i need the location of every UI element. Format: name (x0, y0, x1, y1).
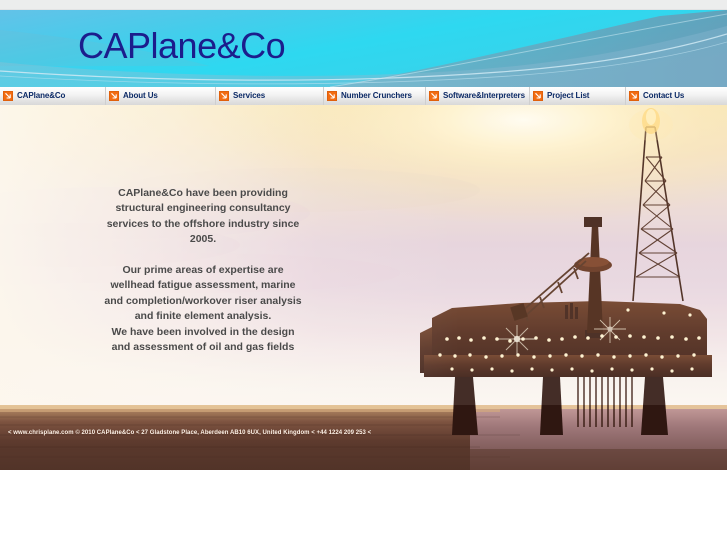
intro-line: CAPlane&Co have been providing (62, 186, 344, 201)
nav-item-label: CAPlane&Co (17, 92, 65, 100)
nav-item-label: Project List (547, 92, 589, 100)
intro-line: and finite element analysis. (62, 309, 344, 324)
nav-item-label: Software&Interpreters (443, 92, 525, 100)
nav-item-label: Contact Us (643, 92, 684, 100)
nav-item-caplaneco[interactable]: CAPlane&Co (0, 87, 106, 105)
paragraph-spacer (62, 248, 344, 263)
arrow-down-right-icon (327, 91, 337, 101)
intro-line: and assessment of oil and gas fields (62, 340, 344, 355)
footer-contact-info: < www.chrisplane.com © 2010 CAPlane&Co <… (8, 430, 371, 436)
intro-line: wellhead fatigue assessment, marine (62, 278, 344, 293)
site-header: CAPlane&Co (0, 10, 727, 87)
nav-item-about-us[interactable]: About Us (106, 87, 216, 105)
nav-item-software-interpreters[interactable]: Software&Interpreters (426, 87, 530, 105)
main-content: CAPlane&Co have been providing structura… (0, 105, 727, 470)
arrow-down-right-icon (629, 91, 639, 101)
intro-line: services to the offshore industry since (62, 217, 344, 232)
nav-item-label: About Us (123, 92, 158, 100)
nav-item-project-list[interactable]: Project List (530, 87, 626, 105)
browser-top-strip (0, 0, 727, 10)
nav-item-number-crunchers[interactable]: Number Crunchers (324, 87, 426, 105)
site-logo[interactable]: CAPlane&Co (78, 25, 285, 67)
intro-line: structural engineering consultancy (62, 201, 344, 216)
intro-line: 2005. (62, 232, 344, 247)
arrow-down-right-icon (429, 91, 439, 101)
nav-item-contact-us[interactable]: Contact Us (626, 87, 727, 105)
nav-item-services[interactable]: Services (216, 87, 324, 105)
arrow-down-right-icon (3, 91, 13, 101)
intro-line: and completion/workover riser analysis (62, 294, 344, 309)
page-root: CAPlane&Co CAPlane&Co About Us Services (0, 0, 727, 545)
arrow-down-right-icon (533, 91, 543, 101)
arrow-down-right-icon (219, 91, 229, 101)
nav-item-label: Number Crunchers (341, 92, 412, 100)
main-navigation[interactable]: CAPlane&Co About Us Services Number Crun… (0, 87, 727, 105)
arrow-down-right-icon (109, 91, 119, 101)
intro-text-block: CAPlane&Co have been providing structura… (62, 186, 344, 355)
nav-item-label: Services (233, 92, 265, 100)
intro-line: Our prime areas of expertise are (62, 263, 344, 278)
intro-line: We have been involved in the design (62, 325, 344, 340)
